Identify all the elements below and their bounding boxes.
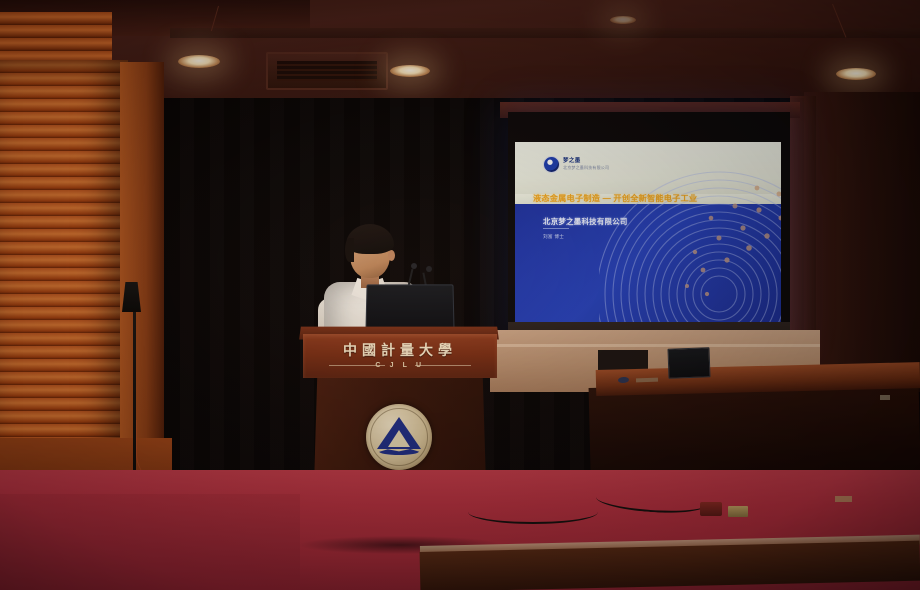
floor-outlet-plate (835, 496, 852, 502)
floor-cable (468, 500, 598, 524)
ripple-pattern-icon (599, 144, 781, 322)
slide-logo: 梦之墨 北京梦之墨科技有限公司 (543, 156, 609, 173)
slide-company-name: 北京梦之墨科技有限公司 (543, 216, 628, 227)
cjlu-university-seal (366, 404, 432, 470)
floor-power-box (700, 502, 722, 516)
seal-triangle-inner-icon (388, 430, 410, 447)
ceiling-beam (170, 28, 920, 38)
slide-divider (543, 228, 569, 229)
wall-trim (490, 344, 820, 347)
wood-wall-panel (120, 62, 164, 482)
conference-hall-photo: 梦之墨 北京梦之墨科技有限公司 液态金属电子制造 — 开创全新智能电子工业 北京… (0, 0, 920, 590)
presenter-hair-side (345, 238, 354, 262)
slide-presenter-name: 刘富 博士 (543, 234, 564, 240)
podium-rule-right (415, 365, 471, 366)
desk-laptop (667, 347, 710, 378)
ceiling-downlight (610, 16, 636, 24)
slide-logo-text: 梦之墨 北京梦之墨科技有限公司 (563, 159, 609, 170)
ceiling-downlight (836, 68, 876, 80)
podium-laptop (365, 284, 454, 330)
company-logo-icon (543, 156, 560, 173)
slide-logo-subname: 北京梦之墨科技有限公司 (563, 166, 609, 170)
projection-screen: 梦之墨 北京梦之墨科技有限公司 液态金属电子制造 — 开创全新智能电子工业 北京… (515, 142, 781, 322)
podium-nameplate: 中國計量大學 C J L U (303, 334, 497, 378)
desk-paper (636, 378, 658, 383)
microphone-head-icon (426, 266, 432, 272)
right-wall (804, 92, 920, 392)
stage-carpet-foreground (0, 494, 300, 590)
air-conditioner-vent (266, 52, 388, 90)
wood-slat-wall (0, 60, 128, 480)
desk-item (880, 395, 890, 400)
ceiling-downlight (178, 55, 220, 68)
microphone-head-icon (411, 263, 417, 269)
slide-title: 液态金属电子制造 — 开创全新智能电子工业 (533, 192, 771, 204)
slide-logo-name: 梦之墨 (563, 159, 609, 165)
floor-outlet-plate (728, 506, 748, 517)
podium-title: 中國計量大學 (303, 340, 497, 360)
ceiling-downlight (390, 65, 430, 77)
presenter-ear (388, 250, 395, 261)
